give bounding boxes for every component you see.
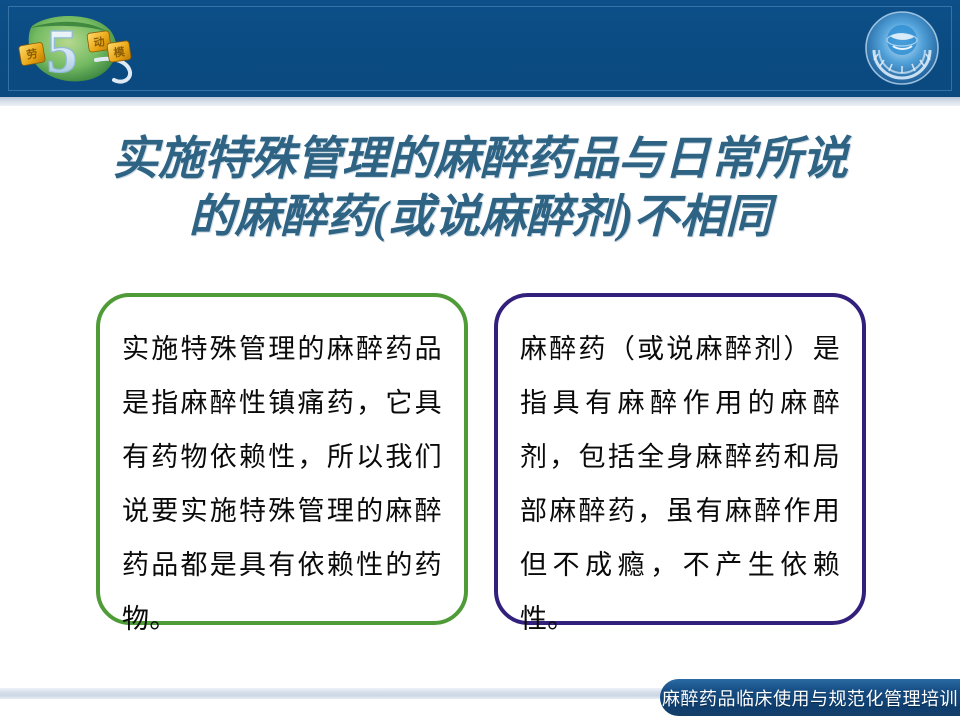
header-inset-border bbox=[8, 6, 952, 91]
page-title: 实施特殊管理的麻醉药品与日常所说 的麻醉药(或说麻醉剂)不相同 bbox=[60, 130, 900, 246]
page-title-line-2: 的麻醉药(或说麻醉剂)不相同 bbox=[60, 188, 900, 246]
anniversary-5-leaf-logo-icon: 5 劳 动 模 bbox=[10, 8, 142, 88]
definition-box-right-text: 麻醉药（或说麻醉剂）是指具有麻醉作用的麻醉剂，包括全身麻醉药和局部麻醉药，虽有麻… bbox=[520, 323, 840, 647]
header-shadow bbox=[0, 97, 960, 106]
slide-canvas: 5 劳 动 模 bbox=[0, 0, 960, 720]
svg-text:5: 5 bbox=[47, 18, 78, 86]
footer-banner-label: 麻醉药品临床使用与规范化管理培训 bbox=[662, 685, 958, 711]
footer-banner: 麻醉药品临床使用与规范化管理培训 bbox=[660, 679, 960, 716]
definition-box-left-text: 实施特殊管理的麻醉药品是指麻醉性镇痛药，它具有药物依赖性，所以我们说要实施特殊管… bbox=[122, 323, 442, 647]
header-bar bbox=[0, 0, 960, 97]
svg-text:动: 动 bbox=[93, 34, 106, 49]
page-title-line-1: 实施特殊管理的麻醉药品与日常所说 bbox=[60, 130, 900, 188]
definition-box-narcotic-drugs: 实施特殊管理的麻醉药品是指麻醉性镇痛药，它具有药物依赖性，所以我们说要实施特殊管… bbox=[96, 293, 468, 625]
definition-box-anesthetics: 麻醉药（或说麻醉剂）是指具有麻醉作用的麻醉剂，包括全身麻醉药和局部麻醉药，虽有麻… bbox=[494, 293, 866, 625]
health-organization-emblem-icon bbox=[860, 6, 944, 90]
